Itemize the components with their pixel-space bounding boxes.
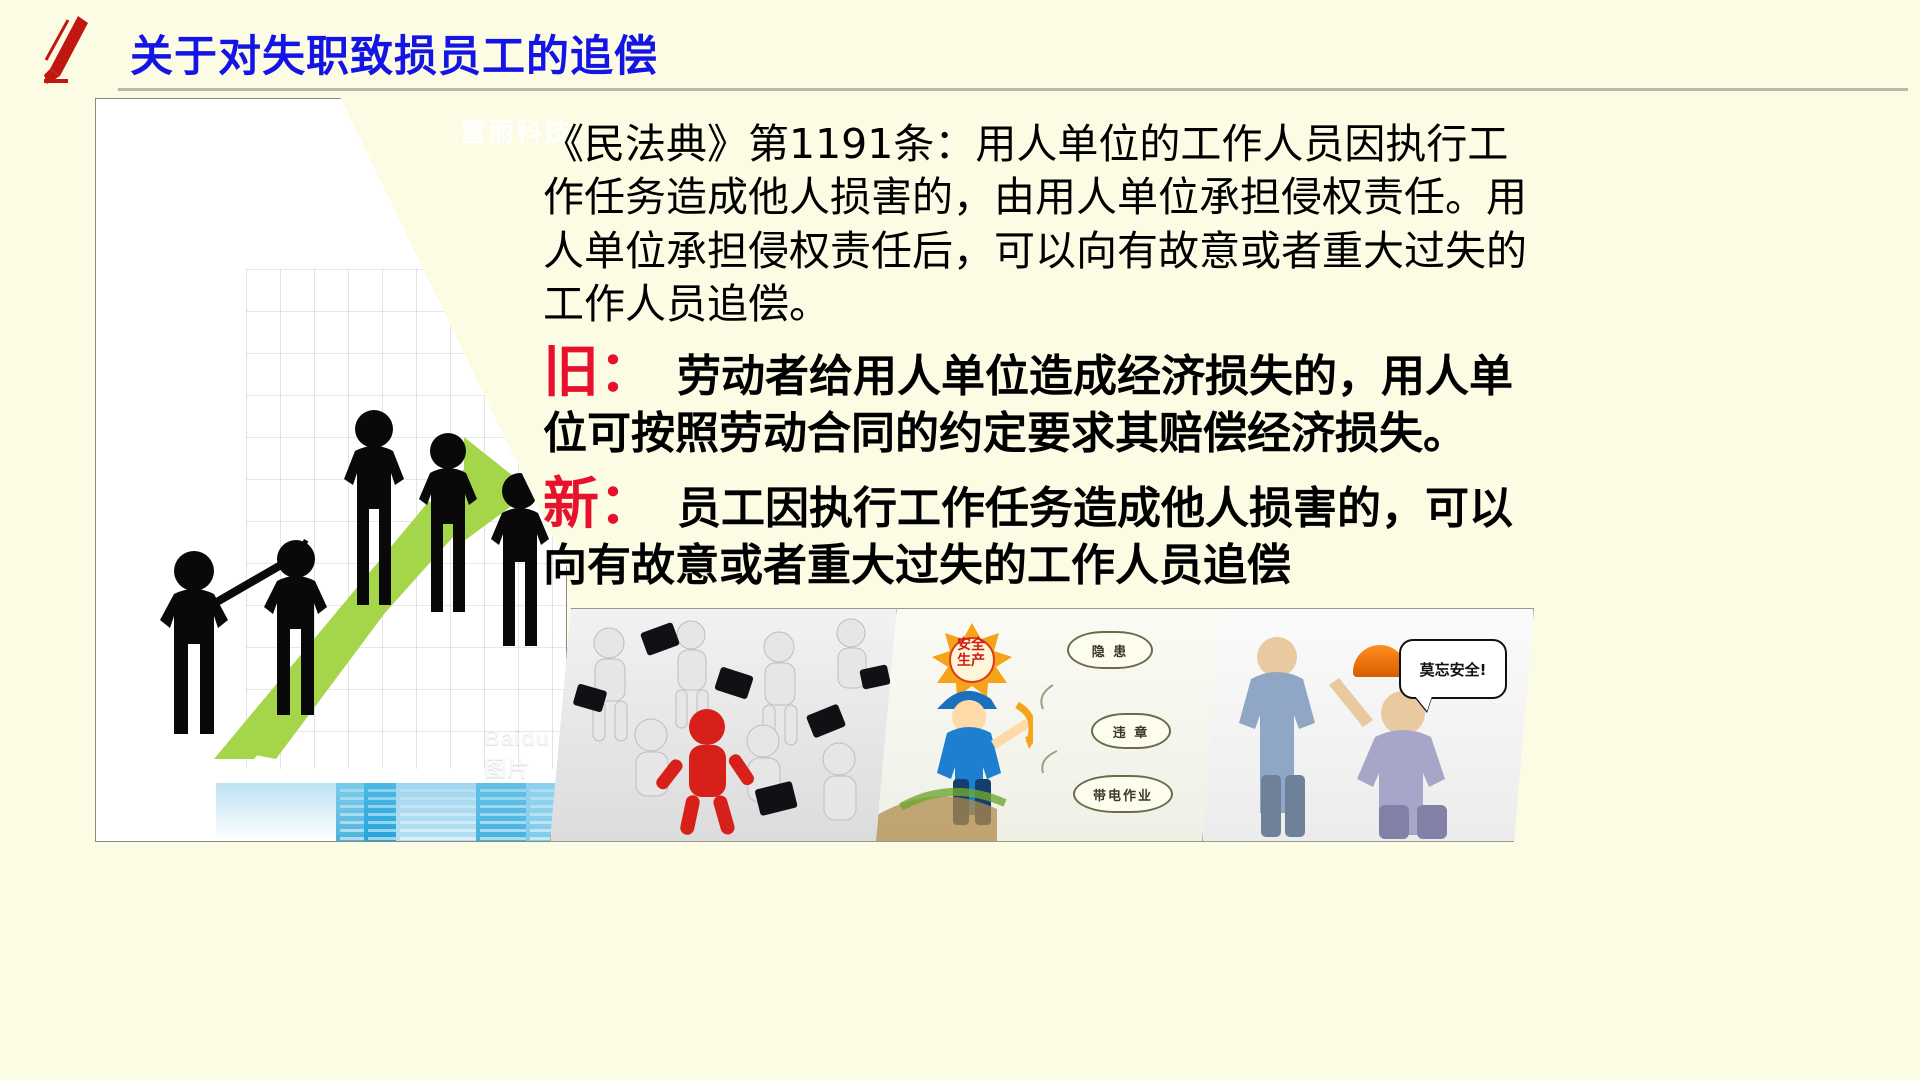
violation-tag: 违 章 <box>1091 713 1171 749</box>
old-rule-text: 劳动者给用人单位造成经济损失的，用人单位可按照劳动合同的约定要求其赔偿经济损失。 <box>543 351 1513 459</box>
image-panel-crowd <box>550 608 897 842</box>
new-marker: 新： <box>543 472 655 537</box>
hero-image-frame: Baidu 图片 <box>95 98 567 842</box>
old-marker: 旧： <box>543 340 655 405</box>
safety-burst-label: 安全生产 <box>939 637 1003 669</box>
old-rule-line: 旧：劳动者给用人单位造成经济损失的，用人单位可按照劳动合同的约定要求其赔偿经济损… <box>543 345 1543 462</box>
title-divider <box>118 88 1908 91</box>
bottom-image-strip: 安全生产 隐 患 违 章 带电作业 <box>540 608 1920 848</box>
speech-bubble: 莫忘安全! <box>1399 639 1507 699</box>
slide-header: 关于对失职致损员工的追偿 <box>0 0 1920 100</box>
image-panel-remember-safety: 莫忘安全! <box>1202 608 1534 842</box>
image-panel-safety-production: 安全生产 隐 患 违 章 带电作业 <box>876 608 1223 842</box>
new-rule-line: 新：员工因执行工作任务造成他人损害的，可以向有故意或者重大过失的工作人员追偿 <box>543 477 1543 594</box>
law-paragraph: 《民法典》第1191条：用人单位的工作人员因执行工作任务造成他人损害的，由用人单… <box>543 118 1543 331</box>
page-title: 关于对失职致损员工的追偿 <box>130 22 658 84</box>
pencil-icon <box>38 14 100 86</box>
new-rule-text: 员工因执行工作任务造成他人损害的，可以向有故意或者重大过失的工作人员追偿 <box>543 483 1513 591</box>
hazard-tag: 隐 患 <box>1067 631 1153 669</box>
crowd-figures <box>551 609 896 841</box>
live-work-tag: 带电作业 <box>1073 775 1173 813</box>
content-text-block: 《民法典》第1191条：用人单位的工作人员因执行工作任务造成他人损害的，由用人单… <box>543 118 1543 594</box>
slide-canvas: 关于对失职致损员工的追偿 <box>0 0 1920 1080</box>
worker-figure <box>913 675 1033 825</box>
